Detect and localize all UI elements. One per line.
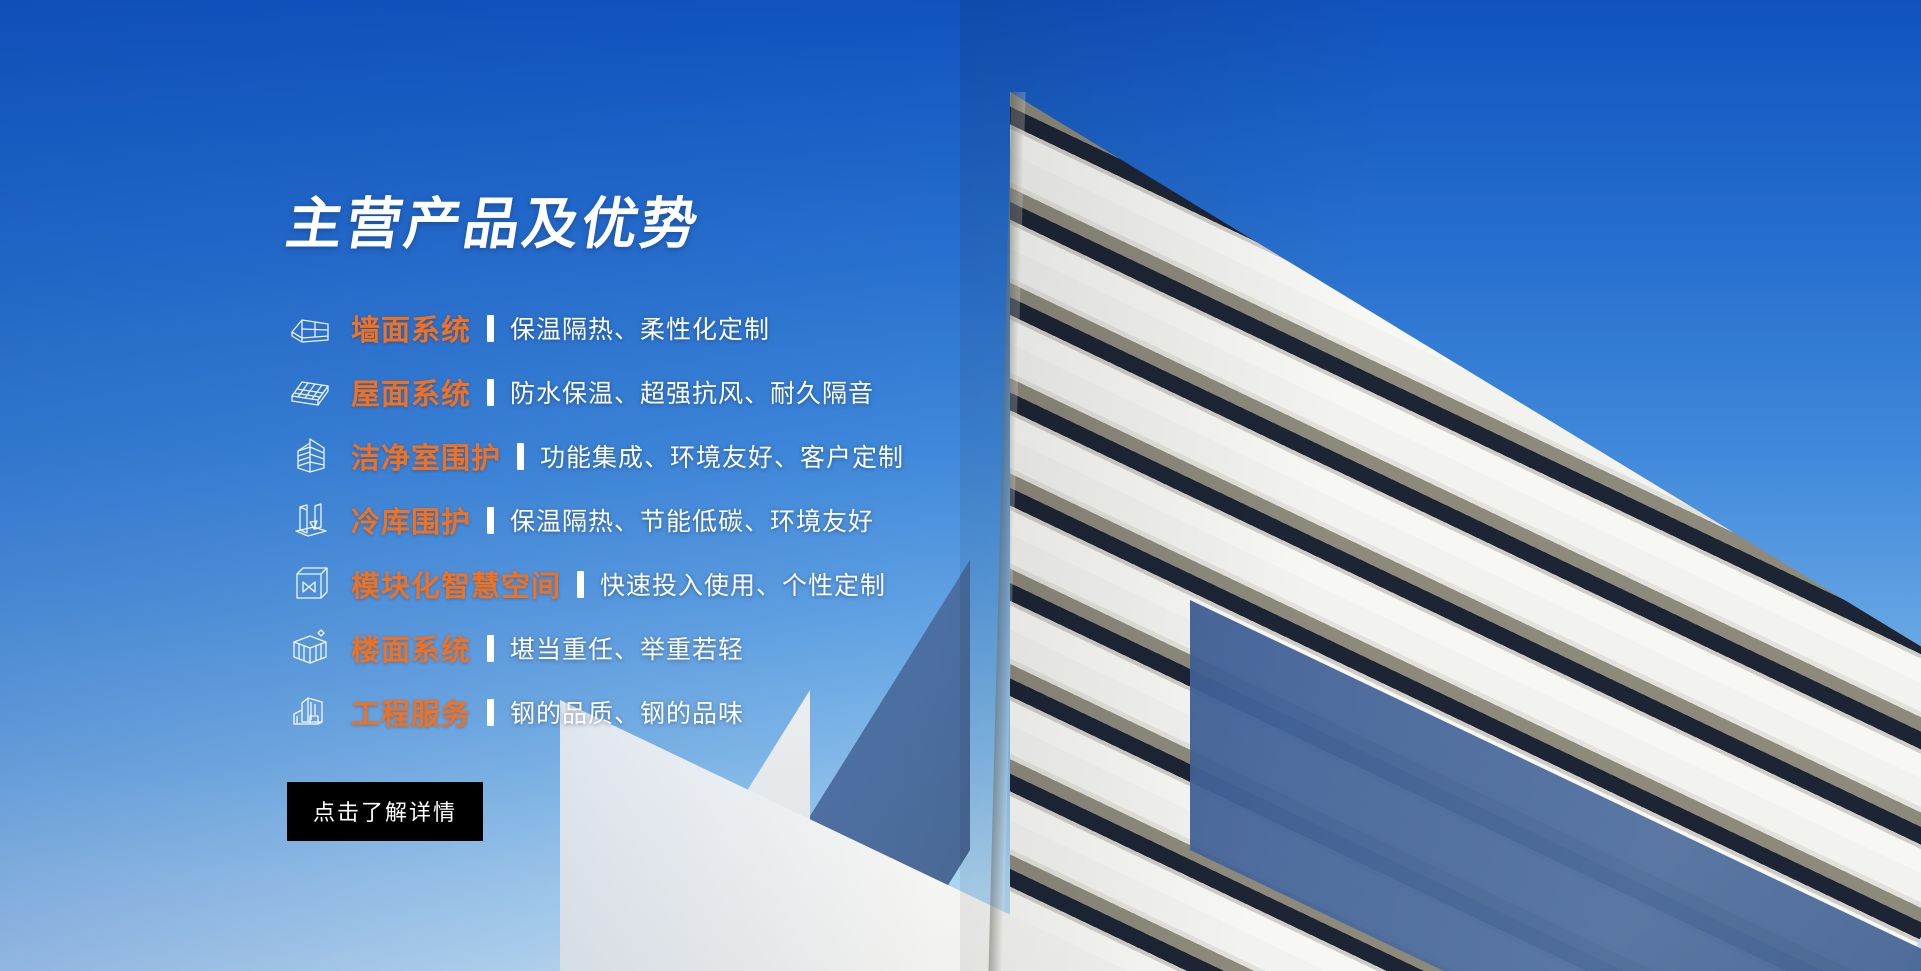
- separator-bar: [577, 571, 584, 598]
- product-description: 堪当重任、举重若轻: [510, 630, 744, 666]
- separator-bar: [517, 443, 524, 470]
- separator-bar: [487, 379, 494, 406]
- product-title: 工程服务: [351, 691, 471, 733]
- engineering-service-icon: [287, 689, 333, 735]
- separator-bar: [487, 315, 494, 342]
- product-title: 墙面系统: [351, 307, 471, 349]
- separator-bar: [487, 699, 494, 726]
- roof-system-icon: [287, 369, 333, 415]
- list-item[interactable]: 洁净室围护 功能集成、环境友好、客户定制: [287, 424, 1287, 488]
- banner-content: 主营产品及优势 墙面系统 保温隔热、柔性化定制: [287, 196, 1287, 841]
- list-item[interactable]: 楼面系统 堪当重任、举重若轻: [287, 616, 1287, 680]
- product-description: 保温隔热、节能低碳、环境友好: [510, 502, 874, 538]
- list-item[interactable]: 屋面系统 防水保温、超强抗风、耐久隔音: [287, 360, 1287, 424]
- cleanroom-enclosure-icon: [287, 433, 333, 479]
- list-item[interactable]: 墙面系统 保温隔热、柔性化定制: [287, 296, 1287, 360]
- separator-bar: [487, 635, 494, 662]
- product-title: 楼面系统: [351, 627, 471, 669]
- product-description: 功能集成、环境友好、客户定制: [540, 438, 904, 474]
- product-title: 洁净室围护: [351, 435, 501, 477]
- list-item[interactable]: 冷库围护 保温隔热、节能低碳、环境友好: [287, 488, 1287, 552]
- product-description: 快速投入使用、个性定制: [600, 566, 886, 602]
- list-item[interactable]: 模块化智慧空间 快速投入使用、个性定制: [287, 552, 1287, 616]
- product-advantages-banner: 主营产品及优势 墙面系统 保温隔热、柔性化定制: [0, 0, 1921, 971]
- product-description: 钢的品质、钢的品味: [510, 694, 744, 730]
- product-title: 模块化智慧空间: [351, 563, 561, 605]
- modular-smart-space-icon: [287, 561, 333, 607]
- product-title: 冷库围护: [351, 499, 471, 541]
- list-item[interactable]: 工程服务 钢的品质、钢的品味: [287, 680, 1287, 744]
- separator-bar: [487, 507, 494, 534]
- product-description: 保温隔热、柔性化定制: [510, 310, 770, 346]
- product-description: 防水保温、超强抗风、耐久隔音: [510, 374, 874, 410]
- wall-system-icon: [287, 305, 333, 351]
- page-title: 主营产品及优势: [283, 196, 1292, 252]
- product-title: 屋面系统: [351, 371, 471, 413]
- product-list: 墙面系统 保温隔热、柔性化定制: [287, 296, 1287, 744]
- floor-system-icon: [287, 625, 333, 671]
- learn-more-button[interactable]: 点击了解详情: [287, 782, 483, 841]
- cold-storage-enclosure-icon: [287, 497, 333, 543]
